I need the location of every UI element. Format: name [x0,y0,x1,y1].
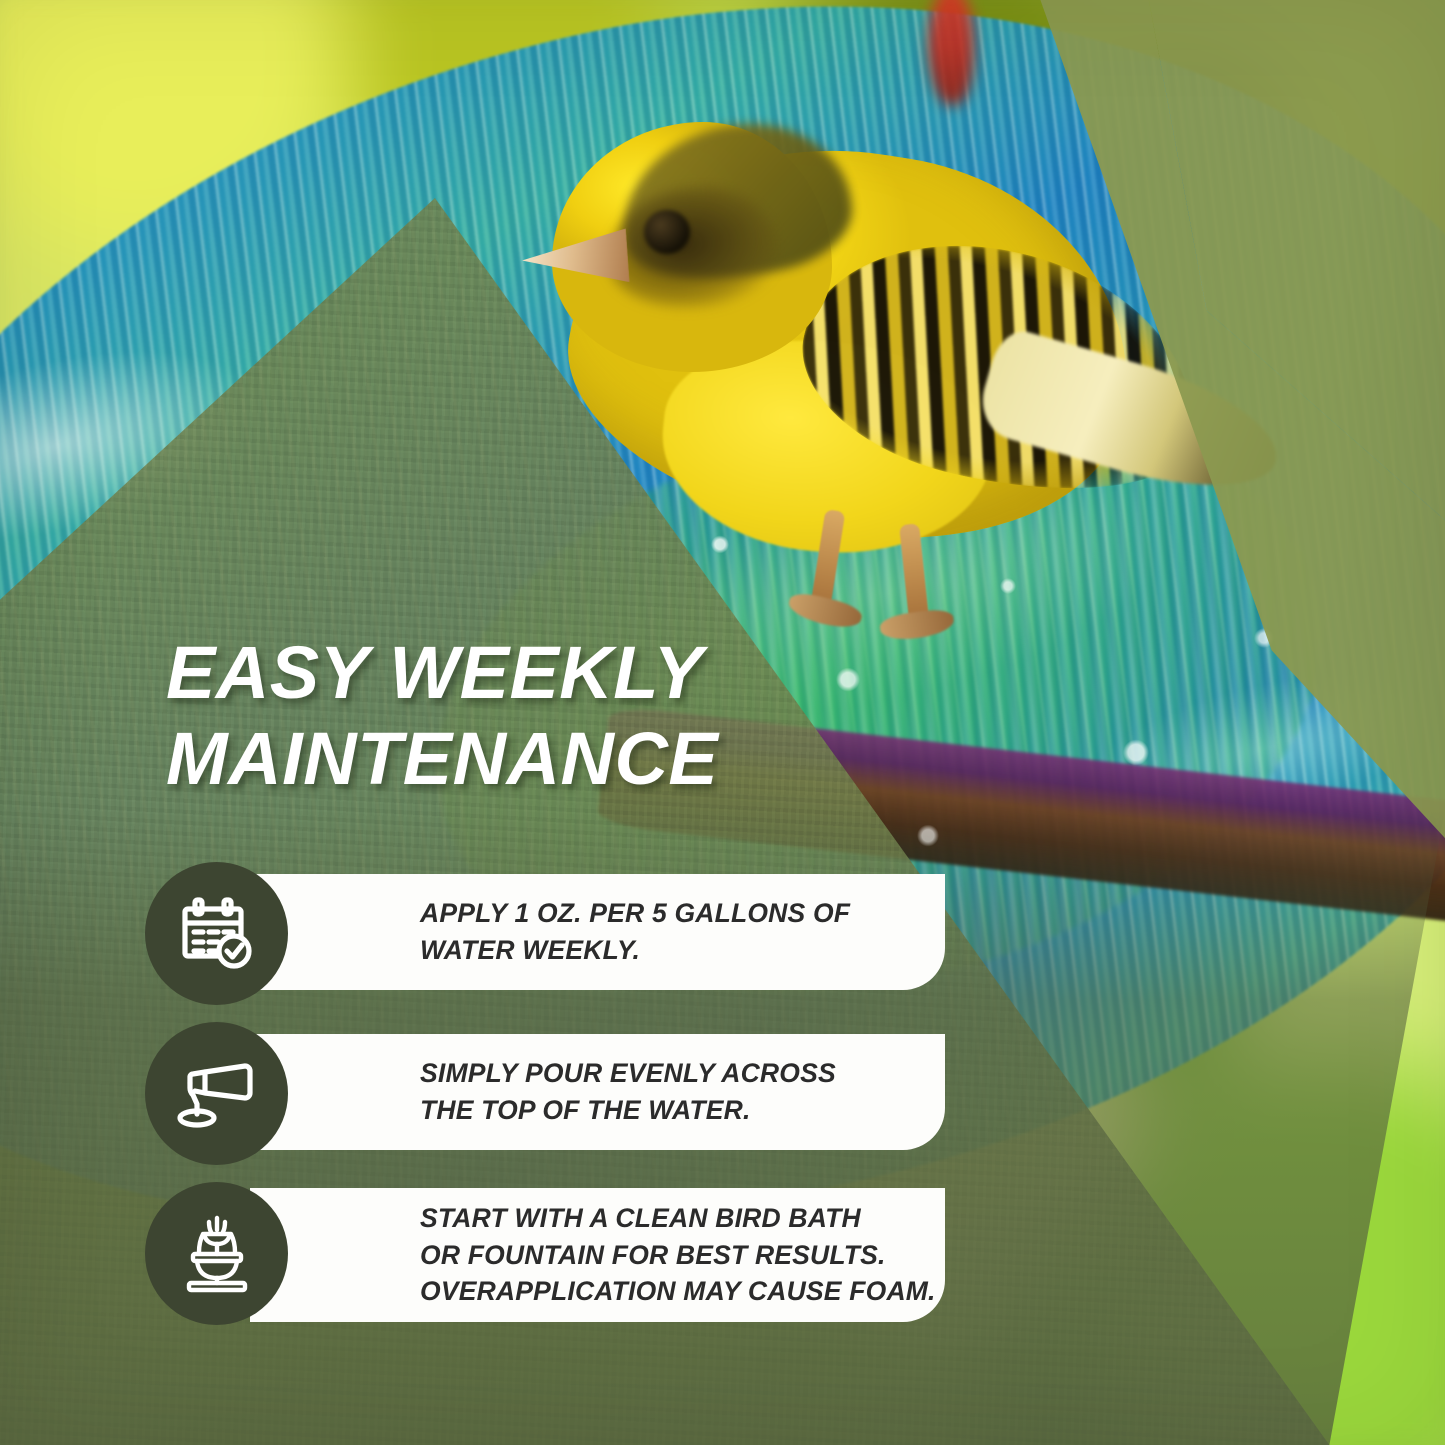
instruction-pill: SIMPLY POUR EVENLY ACROSS THE TOP OF THE… [250,1034,945,1150]
icon-badge [145,1022,288,1165]
instruction-line: WATER WEEKLY. [420,932,850,969]
instruction-line: START WITH A CLEAN BIRD BATH [420,1200,936,1237]
instruction-text: APPLY 1 OZ. PER 5 GALLONS OF WATER WEEKL… [420,895,850,968]
instruction-text: START WITH A CLEAN BIRD BATH OR FOUNTAIN… [420,1200,936,1310]
pouring-bottle-icon [175,1052,259,1136]
list-item: APPLY 1 OZ. PER 5 GALLONS OF WATER WEEKL… [125,862,885,1002]
fountain-icon [175,1212,259,1296]
instruction-line: OVERAPPLICATION MAY CAUSE FOAM. [420,1273,936,1310]
list-item: START WITH A CLEAN BIRD BATH OR FOUNTAIN… [125,1182,885,1322]
instruction-line: SIMPLY POUR EVENLY ACROSS [420,1055,836,1092]
instruction-list: APPLY 1 OZ. PER 5 GALLONS OF WATER WEEKL… [125,862,885,1322]
headline-line-2: MAINTENANCE [166,716,906,802]
instruction-text: SIMPLY POUR EVENLY ACROSS THE TOP OF THE… [420,1055,836,1128]
headline-line-1: EASY WEEKLY [166,630,906,716]
poster-content: EASY WEEKLY MAINTENANCE APPLY 1 OZ. PER … [0,0,1445,1445]
instruction-line: OR FOUNTAIN FOR BEST RESULTS. [420,1237,936,1274]
product-infographic-poster: EASY WEEKLY MAINTENANCE APPLY 1 OZ. PER … [0,0,1445,1445]
calendar-check-icon [175,892,259,976]
instruction-line: THE TOP OF THE WATER. [420,1092,836,1129]
instruction-pill: START WITH A CLEAN BIRD BATH OR FOUNTAIN… [250,1188,945,1322]
page-title: EASY WEEKLY MAINTENANCE [166,630,906,802]
icon-badge [145,862,288,1005]
list-item: SIMPLY POUR EVENLY ACROSS THE TOP OF THE… [125,1022,885,1162]
instruction-pill: APPLY 1 OZ. PER 5 GALLONS OF WATER WEEKL… [250,874,945,990]
instruction-line: APPLY 1 OZ. PER 5 GALLONS OF [420,895,850,932]
icon-badge [145,1182,288,1325]
